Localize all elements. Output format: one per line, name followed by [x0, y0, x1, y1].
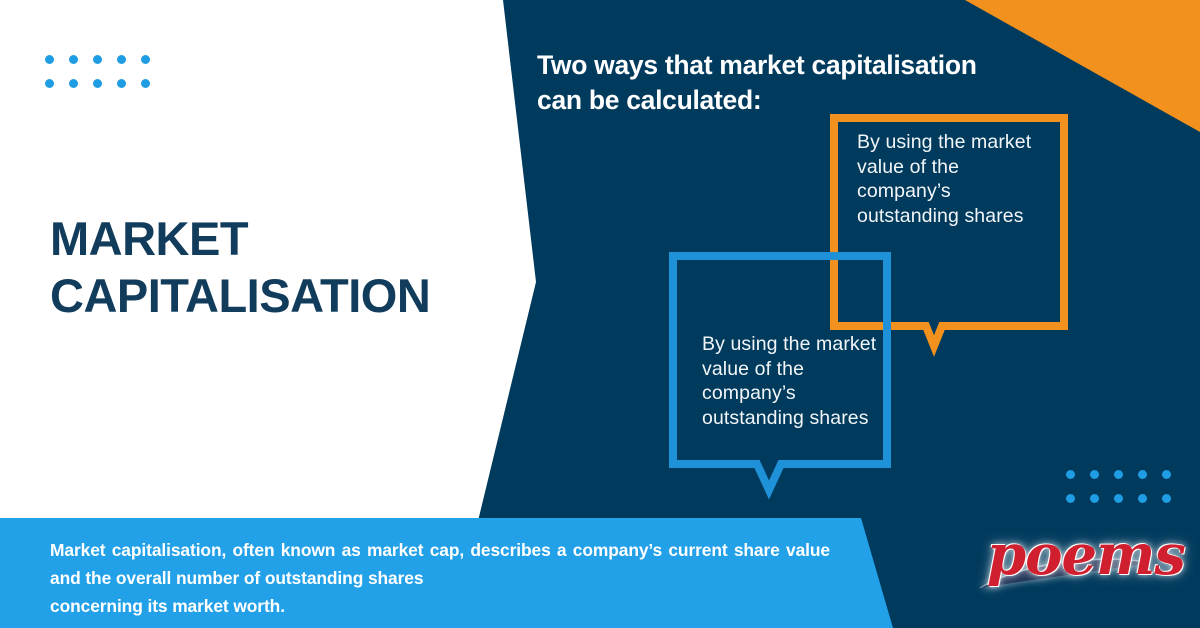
dot: [1114, 494, 1123, 503]
callout-blue-text: By using the market value of the company…: [702, 332, 882, 430]
dot: [117, 55, 126, 64]
dot: [93, 79, 102, 88]
section-heading-line-2: can be calculated:: [537, 83, 1067, 118]
dot: [1114, 470, 1123, 479]
dot-grid-bottom-right: [1066, 470, 1166, 503]
dot: [1066, 470, 1075, 479]
dot: [1138, 494, 1147, 503]
dot: [1090, 470, 1099, 479]
dot: [117, 79, 126, 88]
page-title-line-2: CAPITALISATION: [50, 267, 510, 324]
dot: [45, 55, 54, 64]
section-heading: Two ways that market capitalisation can …: [537, 48, 1067, 118]
section-heading-line-1: Two ways that market capitalisation: [537, 48, 1067, 83]
dot: [1162, 494, 1171, 503]
page-title-line-1: MARKET: [50, 210, 510, 267]
dot: [1066, 494, 1075, 503]
bottom-banner-last-line: concerning its market worth.: [50, 592, 830, 620]
dot: [93, 55, 102, 64]
dot: [69, 55, 78, 64]
callout-orange-text: By using the market value of the company…: [857, 130, 1047, 228]
callout-blue: By using the market value of the company…: [669, 252, 897, 502]
poems-logo: poems: [975, 518, 1175, 614]
page-title: MARKET CAPITALISATION: [50, 210, 510, 325]
poems-logo-wordmark: poems: [987, 522, 1185, 588]
bottom-banner-body: Market capitalisation, often known as ma…: [50, 540, 830, 588]
dot: [141, 55, 150, 64]
dot: [141, 79, 150, 88]
dot: [1090, 494, 1099, 503]
dot: [69, 79, 78, 88]
dot: [1162, 470, 1171, 479]
bottom-banner-text: Market capitalisation, often known as ma…: [50, 536, 830, 621]
dot: [45, 79, 54, 88]
dot-grid-top-left: [45, 55, 145, 88]
infographic-canvas: MARKET CAPITALISATION Two ways that mark…: [0, 0, 1200, 628]
dot: [1138, 470, 1147, 479]
